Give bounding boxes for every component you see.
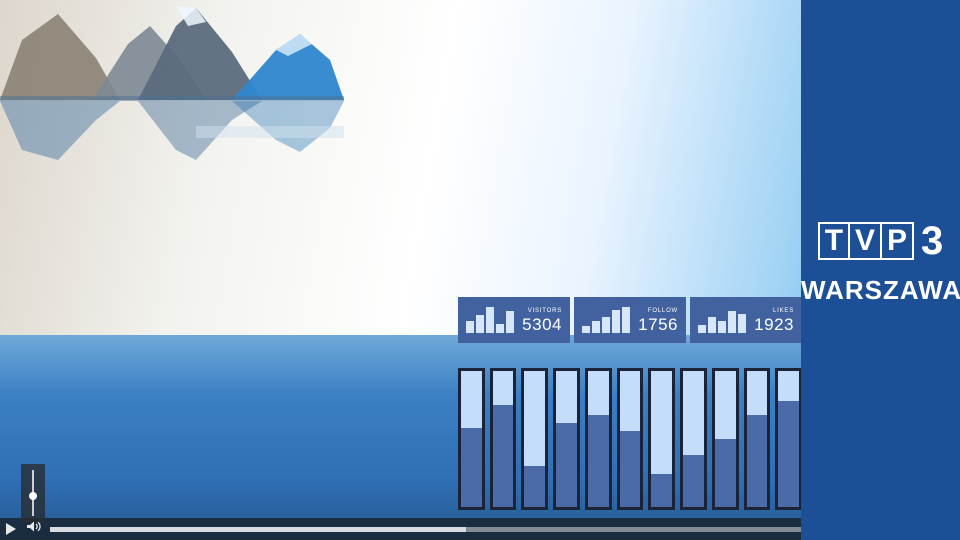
stat-value: 1923 bbox=[746, 316, 794, 333]
stat-label: FOLLOW bbox=[630, 308, 678, 314]
stat-card-follow[interactable]: FOLLOW 1756 bbox=[574, 297, 686, 343]
stat-label: VISITORS bbox=[514, 308, 562, 314]
gauge-bar-chart bbox=[458, 368, 802, 510]
gauge-bar bbox=[521, 368, 548, 510]
minibar bbox=[612, 310, 620, 333]
minibar bbox=[718, 321, 726, 333]
gauge-bar bbox=[775, 368, 802, 510]
volume-knob[interactable] bbox=[29, 492, 37, 500]
channel-logo-panel: T V P 3 WARSZAWA bbox=[801, 0, 960, 540]
gauge-fill bbox=[715, 439, 736, 507]
weather-news-dashboard: WEATHER NEWS MON 25 C bbox=[0, 0, 960, 540]
gauge-fill bbox=[524, 466, 545, 507]
gauge-fill bbox=[778, 401, 799, 507]
volume-slider[interactable] bbox=[21, 464, 45, 522]
stat-text: FOLLOW 1756 bbox=[630, 308, 678, 333]
tvp-letter-t: T bbox=[820, 224, 850, 258]
volume-track[interactable] bbox=[32, 470, 34, 516]
gauge-fill bbox=[493, 405, 514, 507]
minibar bbox=[592, 321, 600, 333]
tvp-letter-p: P bbox=[882, 224, 912, 258]
minibar bbox=[738, 314, 746, 333]
tvp-logo: T V P 3 bbox=[801, 222, 960, 260]
volume-control[interactable] bbox=[26, 520, 42, 538]
gauge-fill bbox=[747, 415, 768, 507]
minibar bbox=[466, 321, 474, 333]
gauge-bar bbox=[680, 368, 707, 510]
minibar bbox=[476, 315, 484, 333]
gauge-fill bbox=[620, 431, 641, 507]
gauge-bar bbox=[744, 368, 771, 510]
channel-number: 3 bbox=[921, 222, 943, 260]
gauge-fill bbox=[683, 455, 704, 507]
minibar bbox=[506, 311, 514, 333]
stat-value: 5304 bbox=[514, 316, 562, 333]
region-label: WARSZAWA bbox=[801, 275, 960, 306]
gauge-bar bbox=[617, 368, 644, 510]
gauge-bar bbox=[553, 368, 580, 510]
gauge-fill bbox=[588, 415, 609, 507]
gauge-bar bbox=[712, 368, 739, 510]
play-icon[interactable] bbox=[6, 523, 16, 535]
stat-text: LIKES 1923 bbox=[746, 308, 794, 333]
stat-label: LIKES bbox=[746, 308, 794, 314]
minibar bbox=[582, 326, 590, 333]
gauge-fill bbox=[651, 474, 672, 507]
video-progress-fill bbox=[50, 527, 466, 532]
stat-value: 1756 bbox=[630, 316, 678, 333]
stat-card-likes[interactable]: LIKES 1923 bbox=[690, 297, 802, 343]
minibar bbox=[602, 317, 610, 333]
minibar bbox=[728, 311, 736, 333]
video-player[interactable] bbox=[0, 0, 344, 160]
minibar-chart bbox=[466, 307, 514, 333]
minibar bbox=[496, 324, 504, 333]
mountain-silhouettes bbox=[0, 0, 344, 160]
gauge-fill bbox=[556, 423, 577, 507]
tvp-letter-boxes: T V P bbox=[818, 222, 914, 260]
tvp-letter-v: V bbox=[850, 224, 882, 258]
minibar bbox=[698, 325, 706, 333]
minibar bbox=[622, 307, 630, 333]
gauge-bar bbox=[490, 368, 517, 510]
gauge-fill bbox=[461, 428, 482, 507]
minibar-chart bbox=[698, 307, 746, 333]
minibar bbox=[708, 317, 716, 333]
gauge-bar bbox=[458, 368, 485, 510]
minibar bbox=[486, 307, 494, 333]
gauge-bar bbox=[585, 368, 612, 510]
stat-text: VISITORS 5304 bbox=[514, 308, 562, 333]
stat-card-visitors[interactable]: VISITORS 5304 bbox=[458, 297, 570, 343]
gauge-bar bbox=[648, 368, 675, 510]
minibar-chart bbox=[582, 307, 630, 333]
